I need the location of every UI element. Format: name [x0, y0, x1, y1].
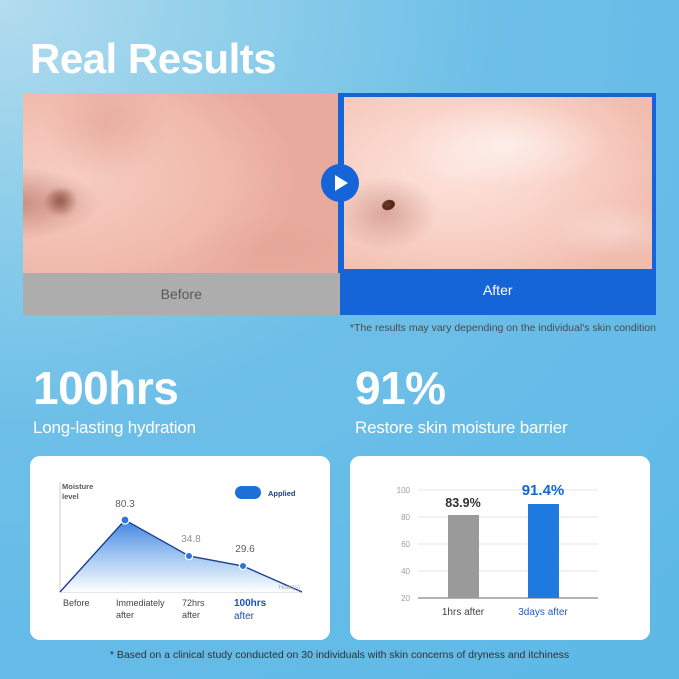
x-axis-unit-label: Hour(s) — [278, 584, 300, 591]
y-tick-label: 60 — [401, 540, 410, 549]
before-after-comparison[interactable]: Before After — [23, 93, 656, 315]
y-tick-label: 40 — [401, 567, 410, 576]
before-label: Before — [23, 273, 340, 315]
bar-chart-card: 100 80 60 40 20 83.9% 91.4% 1hrs after 3… — [350, 456, 650, 640]
x-label-3-line2: after — [234, 611, 255, 622]
stat-value-barrier: 91% — [355, 365, 567, 412]
bar-x-label-2: 3days after — [518, 607, 568, 618]
bar-x-label-1: 1hrs after — [442, 607, 485, 618]
play-icon[interactable] — [321, 164, 359, 202]
data-point — [121, 516, 129, 524]
study-footnote: * Based on a clinical study conducted on… — [0, 649, 679, 661]
y-axis-label-line2: level — [62, 492, 79, 501]
x-label-2-line1: 72hrs — [182, 598, 205, 608]
after-label: After — [344, 269, 653, 311]
results-disclaimer: *The results may vary depending on the i… — [350, 322, 656, 334]
before-photo — [23, 93, 340, 273]
before-pane[interactable]: Before — [23, 93, 340, 315]
legend-label-applied: Applied — [268, 489, 296, 498]
infographic-page: Real Results Before After *The results m… — [0, 0, 679, 679]
stat-value-hydration: 100hrs — [33, 365, 196, 412]
x-label-2-line2: after — [182, 610, 200, 620]
after-pane[interactable]: After — [340, 93, 657, 315]
bar-1hrs-after — [448, 515, 479, 598]
nostril-shadow — [45, 189, 79, 215]
skin-image-after — [344, 97, 653, 269]
x-label-0-line1: Before — [63, 598, 90, 608]
y-tick-label: 100 — [397, 486, 411, 495]
x-label-1-line2: after — [116, 610, 134, 620]
y-axis-label-line1: Moisture — [62, 482, 93, 491]
after-photo — [344, 97, 653, 269]
stat-block-barrier: 91% Restore skin moisture barrier — [355, 365, 567, 438]
play-triangle — [335, 175, 348, 191]
y-tick-label: 20 — [401, 594, 410, 603]
moisture-barrier-bar-chart: 100 80 60 40 20 83.9% 91.4% 1hrs after 3… — [350, 456, 650, 640]
x-label-1-line1: Immediately — [116, 598, 165, 608]
point-label-2: 34.8 — [181, 534, 201, 545]
point-label-1: 80.3 — [115, 499, 135, 510]
stat-caption-barrier: Restore skin moisture barrier — [355, 418, 567, 438]
data-point — [185, 552, 192, 559]
page-title: Real Results — [30, 38, 276, 80]
data-point — [239, 562, 246, 569]
skin-image-before — [23, 93, 340, 273]
y-tick-label: 80 — [401, 513, 410, 522]
stat-caption-hydration: Long-lasting hydration — [33, 418, 196, 438]
point-label-3: 29.6 — [235, 544, 255, 555]
legend-swatch-applied — [235, 486, 261, 499]
stat-block-hydration: 100hrs Long-lasting hydration — [33, 365, 196, 438]
line-chart-card: Moisture level Applied 80.3 34.8 29.6 Ho… — [30, 456, 330, 640]
bar-value-label-2: 91.4% — [522, 482, 565, 499]
bar-3days-after — [528, 504, 559, 598]
x-label-3-line1: 100hrs — [234, 598, 267, 609]
moisture-line-chart: Moisture level Applied 80.3 34.8 29.6 Ho… — [30, 456, 330, 640]
area-fill — [60, 520, 302, 592]
bar-value-label-1: 83.9% — [445, 496, 480, 510]
